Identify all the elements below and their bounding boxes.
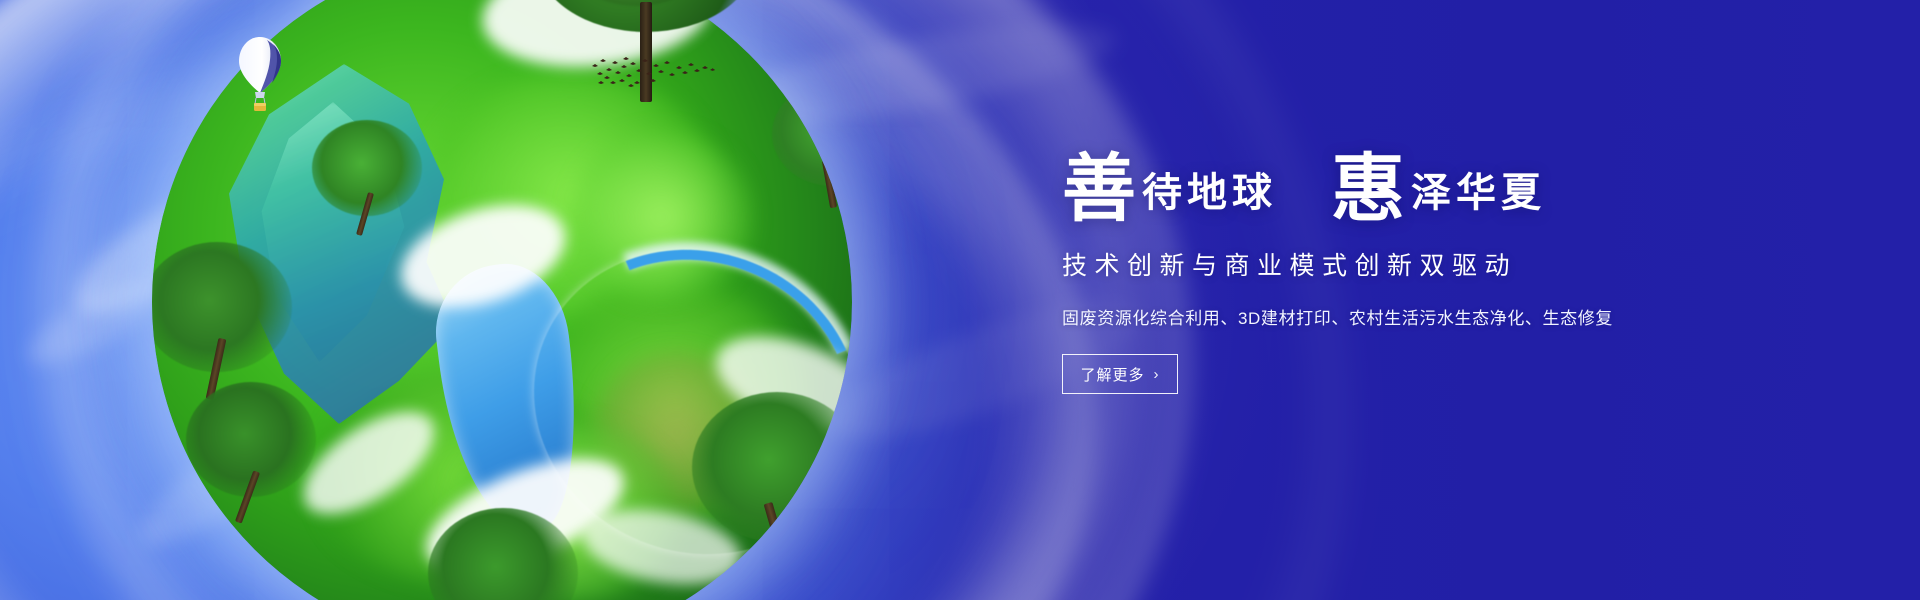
headline-group-two: 惠 泽华夏 [1331, 146, 1546, 220]
tree-icon [772, 82, 852, 212]
banner-description: 固废资源化综合利用、3D建材打印、农村生活污水生态净化、生态修复 [1062, 304, 1762, 329]
tree-icon [312, 120, 422, 240]
learn-more-button[interactable]: 了解更多 › [1062, 354, 1178, 394]
headline-group-one: 善 待地球 [1062, 146, 1277, 220]
headline-big-char-one: 善 [1062, 152, 1136, 226]
hero-banner: 善 待地球 惠 泽华夏 技术创新与商业模式创新双驱动 固废资源化综合利用、3D建… [0, 0, 1920, 600]
tree-icon [428, 508, 578, 600]
tree-icon [692, 392, 852, 572]
hot-air-balloon-icon [237, 35, 283, 115]
tree-icon [152, 242, 292, 402]
bird-flock-icon [590, 52, 730, 94]
headline-small-text-two: 泽华夏 [1411, 173, 1546, 213]
learn-more-label: 了解更多 [1080, 364, 1144, 385]
banner-subtitle: 技术创新与商业模式创新双驱动 [1062, 246, 1762, 282]
banner-content: 善 待地球 惠 泽华夏 技术创新与商业模式创新双驱动 固废资源化综合利用、3D建… [1062, 128, 1762, 394]
tree-crown [428, 508, 578, 600]
tree-crown [772, 82, 852, 186]
chevron-right-icon: › [1154, 367, 1160, 382]
headline-big-char-two: 惠 [1331, 152, 1405, 226]
headline-small-text-one: 待地球 [1142, 173, 1277, 213]
tree-icon [186, 382, 316, 522]
page-title: 善 待地球 惠 泽华夏 [1062, 128, 1762, 220]
